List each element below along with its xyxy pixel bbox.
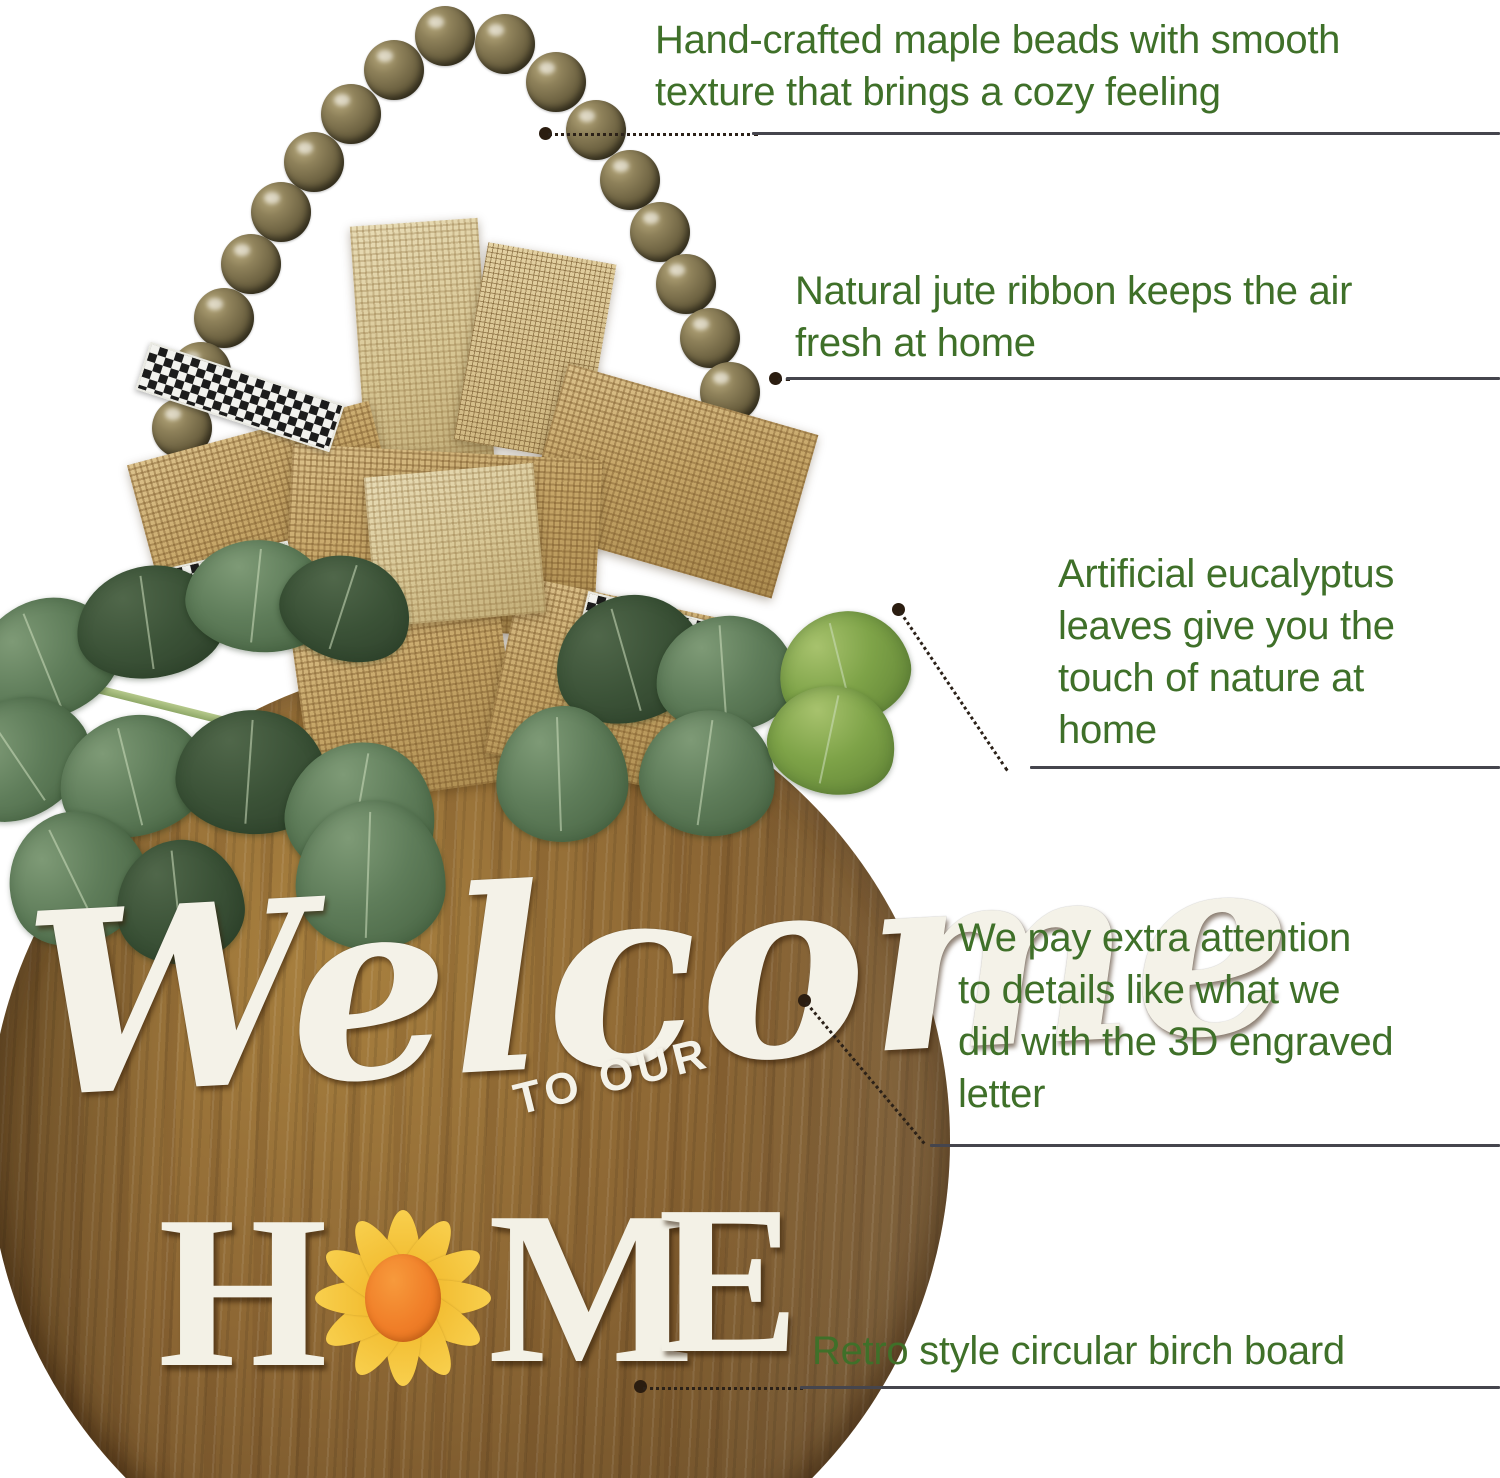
- infographic-canvas: Welcome TO OUR H M E Hand-crafted maple …: [0, 0, 1500, 1478]
- bead: [415, 6, 475, 66]
- leader-line-maple-beads: [548, 133, 758, 136]
- bead: [656, 254, 716, 314]
- sunflower-center: [365, 1254, 441, 1342]
- bead: [630, 202, 690, 262]
- leader-line-birch-board: [643, 1387, 803, 1390]
- home-letter-e: E: [658, 1158, 799, 1402]
- bead: [221, 234, 281, 294]
- callout-rule-engraved-letter: [930, 1144, 1500, 1147]
- callout-text-jute-ribbon: Natural jute ribbon keeps the air fresh …: [795, 265, 1500, 369]
- bead: [475, 14, 535, 74]
- bead: [680, 308, 740, 368]
- bead: [364, 40, 424, 100]
- callout-text-birch-board: Retro style circular birch board: [812, 1325, 1500, 1377]
- callout-text-eucalyptus-leaves: Artificial eucalyptus leaves give you th…: [1058, 548, 1500, 756]
- callout-text-engraved-letter: We pay extra attention to details like w…: [958, 912, 1500, 1120]
- callout-rule-birch-board: [800, 1386, 1500, 1389]
- bead: [321, 84, 381, 144]
- callout-rule-eucalyptus-leaves: [1030, 766, 1500, 769]
- bead: [284, 132, 344, 192]
- callout-text-maple-beads: Hand-crafted maple beads with smooth tex…: [655, 14, 1495, 118]
- bead: [194, 288, 254, 348]
- callout-rule-jute-ribbon: [786, 377, 1500, 380]
- home-letter-h: H: [158, 1168, 328, 1418]
- bead: [251, 182, 311, 242]
- bead: [526, 52, 586, 112]
- sunflower-icon: [312, 1200, 494, 1396]
- product-image: Welcome TO OUR H M E: [0, 0, 950, 1430]
- callout-rule-maple-beads: [752, 132, 1500, 135]
- bead: [566, 100, 626, 160]
- bead: [600, 150, 660, 210]
